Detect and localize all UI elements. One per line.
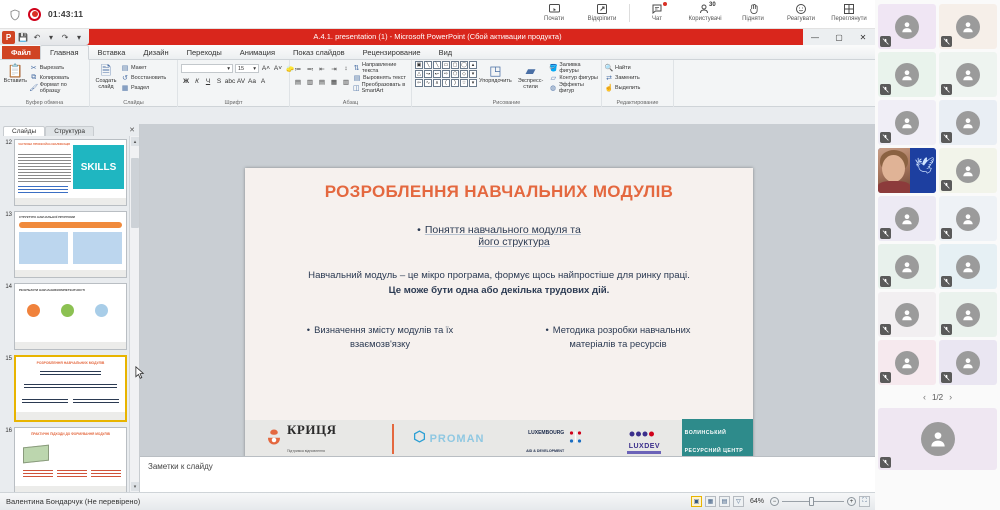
thumb-footer <box>16 412 125 420</box>
mic-off-icon <box>941 276 952 287</box>
paste-label: Вставить <box>4 78 27 84</box>
pager-label: 1/2 <box>932 393 943 402</box>
italic-button[interactable]: К <box>192 77 202 87</box>
shape-outline-icon: ▱ <box>549 74 557 82</box>
minimize-icon[interactable]: — <box>803 29 827 45</box>
thumb-col-right <box>73 399 119 405</box>
thumb-banner <box>19 222 122 228</box>
participant-tile-2[interactable] <box>939 4 997 49</box>
slide-paragraph: Навчальний модуль – це мікро програма, ф… <box>245 268 753 298</box>
tab-animations[interactable]: Анимация <box>231 46 284 59</box>
list-item[interactable]: 12 ЧАСТКОВА ПРОФЕСІЙНА КВАЛІФІКАЦІЯ SKIL… <box>2 139 127 206</box>
mic-off-icon <box>880 276 891 287</box>
thumb-circle-3 <box>95 304 108 317</box>
slide-thumbnail-16[interactable]: ПРАКТИЧНІ ПІДХОДИ ДО ФОРМУВАННЯ МОДУЛІВ <box>14 427 127 492</box>
logo-luxdev: LUXDEV <box>607 420 681 458</box>
shape-pentagon-icon[interactable]: ⬠ <box>451 70 459 78</box>
participant-tile-16[interactable] <box>939 340 997 385</box>
slide-thumbnail-12[interactable]: ЧАСТКОВА ПРОФЕСІЙНА КВАЛІФІКАЦІЯ SKILLS <box>14 139 127 206</box>
raise-hand-button[interactable]: Підняти <box>729 0 777 29</box>
chat-button[interactable]: Чат <box>633 0 681 29</box>
mic-off-icon <box>880 228 891 239</box>
recording-time: 01:43:11 <box>48 9 83 19</box>
luxdev-name: LUXDEV <box>629 443 660 450</box>
participant-tile-self[interactable]: 🕊 <box>878 148 936 193</box>
status-view-controls: ▣ ▦ ▤ ▽ 64% − + ⛶ <box>691 496 875 507</box>
meeting-toolbar: 01:43:11 Почати Відкріпити <box>0 0 875 29</box>
bullets-button[interactable]: ≔ <box>293 64 303 74</box>
thumb-circle-2 <box>61 304 74 317</box>
logo-luxembourg: LUXEMBOURG AID & DEVELOPMENT <box>503 420 607 458</box>
status-author-label: Валентина Бондарчук (Не перевірено) <box>6 497 140 506</box>
slide-number: 14 <box>2 283 12 350</box>
share-screen-icon <box>548 2 561 15</box>
mic-off-icon <box>941 372 952 383</box>
increase-indent-button[interactable]: ⇥ <box>329 64 339 74</box>
numbering-button[interactable]: ≕ <box>305 64 315 74</box>
avatar <box>956 111 980 135</box>
column-left-line-1: Визначення змісту модулів та їх <box>314 324 453 335</box>
thumb-col-2 <box>57 470 87 478</box>
reset-label: Восстановить <box>131 75 166 81</box>
mic-off-icon <box>880 132 891 143</box>
slide-number: 13 <box>2 211 12 278</box>
arrange-button[interactable]: ◳ Упорядочить <box>479 61 512 84</box>
current-slide[interactable]: РОЗРОБЛЕННЯ НАВЧАЛЬНИХ МОДУЛІВ •Поняття … <box>245 168 753 458</box>
slide-bullet-1: •Поняття навчального модуля та його стру… <box>245 224 753 248</box>
mic-off-icon <box>941 324 952 335</box>
self-video: 🕊 <box>878 148 936 193</box>
avatar <box>895 111 919 135</box>
thumb-title: СТРУКТУРА НАВЧАЛЬНОЇ ПРОГРАМИ <box>19 215 75 219</box>
participants-count: 30 <box>709 2 716 8</box>
clipboard-group-label: Буфер обмена <box>3 99 86 107</box>
font-size-input[interactable]: 15▾ <box>235 64 259 73</box>
raise-hand-icon <box>748 2 759 15</box>
normal-view-icon[interactable]: ▣ <box>691 496 702 507</box>
thumb-book-icon <box>23 445 49 464</box>
krycia-mark-icon <box>265 427 283 452</box>
tab-home[interactable]: Главная <box>40 45 89 60</box>
shape-curve1-icon[interactable]: ↝ <box>424 70 432 78</box>
find-button[interactable]: 🔍 Найти <box>605 63 640 72</box>
font-group-label: Шрифт <box>181 99 286 107</box>
slide-thumbnail-15[interactable]: РОЗРОБЛЕННЯ НАВЧАЛЬНИХ МОДУЛІВ <box>14 355 127 422</box>
chevron-right-icon[interactable]: › <box>949 392 952 402</box>
view-grid-icon <box>843 2 855 15</box>
share-screen-label: Почати <box>544 16 564 22</box>
format-painter-label: Формат по образцу <box>40 82 86 94</box>
section-icon: ▦ <box>121 84 129 92</box>
arrange-label: Упорядочить <box>479 78 512 84</box>
bird-icon: 🕊 <box>915 156 935 176</box>
font-color-button[interactable]: A <box>258 77 268 87</box>
paste-button[interactable]: 📋 Вставить <box>3 61 28 84</box>
bullet-1-line-1: Поняття навчального модуля та <box>425 224 581 236</box>
fit-slide-icon[interactable]: ⛶ <box>859 496 870 507</box>
participant-tile-13[interactable] <box>878 292 936 337</box>
shape-fill-label: Заливка фигуры <box>559 62 598 74</box>
shape-chevron-icon[interactable]: ∧ <box>433 79 441 87</box>
participant-tile-11[interactable] <box>878 244 936 289</box>
cut-label: Вырезать <box>40 65 64 71</box>
find-label: Найти <box>615 65 631 71</box>
tab-transitions[interactable]: Переходы <box>178 46 231 59</box>
view-label: Переглянути <box>831 16 867 22</box>
shape-arrow-left-icon[interactable]: ⇦ <box>415 79 423 87</box>
shapes-gallery[interactable]: ▣ ╲ ╲ ▭ ▢ ◯ ▴ △ ↝ ↜ ⇨ ⬠ ◇ <box>415 61 477 87</box>
ribbon-group-paragraph: ≔ ≕ ⇤ ⇥ ↕ ▤ ▥ ▤ ▦ ▥ <box>290 60 412 107</box>
shape-oval-icon[interactable]: ◯ <box>460 61 468 69</box>
proman-mark-icon <box>413 430 426 448</box>
align-text-label: Выровнять текст <box>363 75 406 81</box>
chat-icon <box>651 2 663 15</box>
zoom-level: 64% <box>750 498 764 505</box>
tab-slideshow[interactable]: Показ слайдов <box>284 46 354 59</box>
person-face <box>882 155 904 182</box>
thumb-image: SKILLS <box>73 145 124 189</box>
font-size-value: 15 <box>238 66 244 72</box>
align-center-button[interactable]: ▥ <box>305 77 315 87</box>
paragraph-group-label: Абзац <box>293 99 408 107</box>
participants-pager: ‹ 1/2 › <box>878 392 997 402</box>
record-icon[interactable] <box>28 8 41 21</box>
shape-curve2-icon[interactable]: ↜ <box>433 70 441 78</box>
thumb-circle-1 <box>27 304 40 317</box>
font-name-input[interactable]: ▾ <box>181 64 233 73</box>
logo-proman: PROMAN <box>394 420 503 458</box>
thumb-title: РЕЗУЛЬТАТИ НАВЧАННЯ/КОМПЕТЕНТНОСТІ <box>19 288 86 292</box>
align-left-button[interactable]: ▤ <box>293 77 303 87</box>
participant-tile-12[interactable] <box>939 244 997 289</box>
status-author: Валентина Бондарчук (Не перевірено) <box>0 497 140 506</box>
text-direction-button[interactable]: ⇅ Направление текста <box>353 63 408 72</box>
shadow-button[interactable]: S <box>214 77 224 87</box>
avatar <box>921 422 955 456</box>
participants-button[interactable]: 30 Користувачі <box>681 0 729 29</box>
participant-tile-9[interactable] <box>878 196 936 241</box>
slides-pane-tabs: Слайды Структура ✕ <box>0 124 139 136</box>
slide-title: РОЗРОБЛЕННЯ НАВЧАЛЬНИХ МОДУЛІВ <box>245 182 753 202</box>
mic-off-icon <box>941 180 952 191</box>
section-label: Раздел <box>131 85 149 91</box>
thumb-text-lines <box>18 154 71 184</box>
participant-tile-5[interactable] <box>878 100 936 145</box>
thumb-col-left <box>22 399 68 405</box>
list-item[interactable]: 13 СТРУКТУРА НАВЧАЛЬНОЇ ПРОГРАМИ <box>2 211 127 278</box>
thumb-footer <box>15 270 126 277</box>
align-right-button[interactable]: ▤ <box>317 77 327 87</box>
mic-off-icon <box>880 36 891 47</box>
decrease-indent-button[interactable]: ⇤ <box>317 64 327 74</box>
font-shrink-icon[interactable]: A˅ <box>273 64 283 74</box>
editing-group-label: Редактирование <box>605 99 670 107</box>
chat-label: Чат <box>652 16 662 22</box>
tab-insert[interactable]: Вставка <box>89 46 135 59</box>
replace-label: Заменить <box>615 75 640 81</box>
paragraph-line-2: Це може бути одна або декілька трудових … <box>245 283 753 298</box>
participants-panel: 🕊 <box>875 0 1000 510</box>
quick-styles-label: Экспресс-стили <box>514 78 548 90</box>
smartart-label: Преобразовать в SmartArt <box>362 82 408 94</box>
notes-placeholder: Заметки к слайду <box>140 457 875 476</box>
find-icon: 🔍 <box>605 64 613 72</box>
logo-krycia: КРИЦЯ Підтримка відновлення <box>245 424 394 454</box>
list-item[interactable]: 15 РОЗРОБЛЕННЯ НАВЧАЛЬНИХ МОДУЛІВ <box>2 355 127 422</box>
slide-number: 12 <box>2 139 12 206</box>
recording-indicator: 01:43:11 <box>0 8 83 21</box>
shape-star-icon[interactable]: ☆ <box>460 79 468 87</box>
slide-thumbnail-14[interactable]: РЕЗУЛЬТАТИ НАВЧАННЯ/КОМПЕТЕНТНОСТІ <box>14 283 127 350</box>
avatar <box>956 63 980 87</box>
participant-tile-8[interactable] <box>939 148 997 193</box>
font-grow-icon[interactable]: A˄ <box>261 64 271 74</box>
luxdev-dots-icon <box>629 424 659 442</box>
line-spacing-button[interactable]: ↕ <box>341 64 351 74</box>
status-bar: Валентина Бондарчук (Не перевірено) ▣ ▦ … <box>0 492 875 510</box>
select-label: Выделить <box>615 85 640 91</box>
replace-icon: ⇄ <box>605 74 613 82</box>
shapes-expand-icon[interactable]: ▾ <box>469 79 477 87</box>
shapes-more-icon[interactable]: ▴ <box>469 61 477 69</box>
avatar <box>956 351 980 375</box>
thumb-col-3 <box>91 470 121 478</box>
avatar <box>895 63 919 87</box>
cut-button[interactable]: ✂ Вырезать <box>30 63 86 72</box>
new-slide-button[interactable]: 🗎 Создать слайд <box>93 61 119 90</box>
krycia-subtitle: Підтримка відновлення <box>287 449 325 453</box>
powerpoint-title: A.4.1. presentation (1) - Microsoft Powe… <box>0 29 875 45</box>
close-icon[interactable]: ✕ <box>851 29 875 45</box>
participant-tile-15[interactable] <box>878 340 936 385</box>
layout-label: Макет <box>131 65 147 71</box>
tab-design[interactable]: Дизайн <box>134 46 177 59</box>
reset-icon: ↺ <box>121 74 129 82</box>
mic-off-icon <box>941 228 952 239</box>
zoom-slider-knob[interactable] <box>809 497 814 506</box>
zoom-out-icon[interactable]: − <box>770 497 779 506</box>
thumb-box-right <box>73 232 122 264</box>
smartart-icon: ◫ <box>353 84 360 92</box>
new-slide-icon: 🗎 <box>101 63 111 78</box>
tab-file[interactable]: Файл <box>2 46 40 59</box>
main-content-area: 01:43:11 Почати Відкріпити <box>0 0 875 510</box>
close-icon[interactable]: ✕ <box>129 126 135 134</box>
align-text-icon: ▤ <box>353 74 361 82</box>
pane-tab-outline[interactable]: Структура <box>45 126 94 136</box>
avatar <box>956 303 980 327</box>
chevron-left-icon[interactable]: ‹ <box>923 392 926 402</box>
zoom-slider[interactable] <box>782 496 844 507</box>
quick-styles-button[interactable]: ▰ Экспресс-стили <box>514 61 548 90</box>
mic-off-icon <box>941 84 952 95</box>
shape-fill-icon: 🪣 <box>549 64 557 72</box>
replace-button[interactable]: ⇄ Заменить <box>605 73 640 82</box>
shape-outline-label: Контур фигуры <box>559 75 597 81</box>
paste-icon: 📋 <box>7 63 23 78</box>
text-direction-icon: ⇅ <box>353 64 360 72</box>
person-torso <box>878 181 910 193</box>
columns-button[interactable]: ▥ <box>341 77 351 87</box>
reactions-icon <box>795 2 807 15</box>
tab-review[interactable]: Рецензирование <box>354 46 430 59</box>
screen-root: 01:43:11 Почати Відкріпити <box>0 0 1000 510</box>
shape-triangle-icon[interactable]: △ <box>415 70 423 78</box>
shape-rounded-icon[interactable]: ▢ <box>451 61 459 69</box>
chat-notification-dot <box>663 2 667 6</box>
section-button[interactable]: ▦ Раздел <box>121 83 166 92</box>
participant-tile-1[interactable] <box>878 4 936 49</box>
unpin-label: Відкріпити <box>588 16 617 22</box>
thumb-title: ЧАСТКОВА ПРОФЕСІЙНА КВАЛІФІКАЦІЯ <box>18 143 71 146</box>
format-painter-button[interactable]: 🖌 Формат по образцу <box>30 83 86 92</box>
reading-view-icon[interactable]: ▤ <box>719 496 730 507</box>
underline-button[interactable]: Ч <box>203 77 213 87</box>
list-item[interactable]: 14 РЕЗУЛЬТАТИ НАВЧАННЯ/КОМПЕТЕНТНОСТІ <box>2 283 127 350</box>
mic-off-icon <box>941 132 952 143</box>
shape-effects-button[interactable]: ◍ Эффекты фигур <box>549 83 598 92</box>
slides-pane-scrollbar[interactable]: ▴ ▾ <box>129 136 139 492</box>
slide-column-right: •Методика розробки навчальних матеріалів… <box>499 323 737 351</box>
slideshow-icon[interactable]: ▽ <box>733 496 744 507</box>
reset-button[interactable]: ↺ Восстановить <box>121 73 166 82</box>
shape-line-icon[interactable]: ╲ <box>424 61 432 69</box>
ribbon-tabs: Файл Главная Вставка Дизайн Переходы Ани… <box>0 45 875 60</box>
maximize-icon[interactable]: ▢ <box>827 29 851 45</box>
mic-off-icon <box>880 372 891 383</box>
slide-thumbnails: 12 ЧАСТКОВА ПРОФЕСІЙНА КВАЛІФІКАЦІЯ SKIL… <box>0 136 129 492</box>
avatar <box>956 15 980 39</box>
column-right-line-2: матеріалів та ресурсів <box>499 337 737 351</box>
drawing-group-label: Рисование <box>415 99 598 107</box>
format-painter-icon: 🖌 <box>30 84 38 92</box>
thumb-box-left <box>19 232 68 264</box>
logo-volyn-resource-center: ВОЛИНСЬКИЙ РЕСУРСНИЙ ЦЕНТР <box>682 420 753 458</box>
avatar <box>956 255 980 279</box>
shape-textbox-icon[interactable]: ▣ <box>415 61 423 69</box>
reactions-button[interactable]: Реагувати <box>777 0 825 29</box>
copy-icon: ⧉ <box>30 74 38 82</box>
window-buttons: — ▢ ✕ <box>803 29 875 45</box>
shield-icon <box>9 8 21 21</box>
select-icon: ☝ <box>605 84 613 92</box>
shape-brace-close-icon[interactable]: ) <box>451 79 459 87</box>
krycia-name: КРИЦЯ <box>287 422 336 437</box>
arrange-icon: ◳ <box>489 63 501 78</box>
thumb-title: ПРАКТИЧНІ ПІДХОДИ ДО ФОРМУВАННЯ МОДУЛІВ <box>15 432 126 436</box>
new-slide-label: Создать слайд <box>93 78 119 90</box>
layout-button[interactable]: ▤ Макет <box>121 63 166 72</box>
slide-thumbnail-13[interactable]: СТРУКТУРА НАВЧАЛЬНОЇ ПРОГРАМИ <box>14 211 127 278</box>
cut-icon: ✂ <box>30 64 38 72</box>
thumb-footer <box>15 198 126 205</box>
mic-off-icon <box>941 36 952 47</box>
copy-label: Копировать <box>40 75 70 81</box>
shapes-scroll-icon[interactable]: ▾ <box>469 70 477 78</box>
list-item[interactable]: 16 ПРАКТИЧНІ ПІДХОДИ ДО ФОРМУВАННЯ МОДУЛ… <box>2 427 127 492</box>
shape-brace-open-icon[interactable]: ( <box>442 79 450 87</box>
ribbon-group-font: ▾ 15▾ A˄ A˅ 🧽 Ж К Ч <box>178 60 290 107</box>
tab-view[interactable]: Вид <box>430 46 462 59</box>
change-case-button[interactable]: Aa <box>247 77 257 87</box>
bold-button[interactable]: Ж <box>181 77 191 87</box>
slide-canvas[interactable]: РОЗРОБЛЕННЯ НАВЧАЛЬНИХ МОДУЛІВ •Поняття … <box>140 124 875 510</box>
participant-tile-featured[interactable] <box>878 408 997 470</box>
participant-tile-4[interactable] <box>939 52 997 97</box>
thumb-links <box>18 186 68 193</box>
scroll-up-icon[interactable]: ▴ <box>131 137 139 146</box>
luxdev-underline <box>627 451 661 454</box>
thumb-footer <box>15 342 126 349</box>
avatar <box>895 207 919 231</box>
select-button[interactable]: ☝ Выделить <box>605 83 640 92</box>
shape-diamond-icon[interactable]: ◇ <box>460 70 468 78</box>
strikethrough-button[interactable]: abc <box>225 77 235 87</box>
avatar <box>895 255 919 279</box>
shape-effects-label: Эффекты фигур <box>559 82 598 94</box>
scrollbar-thumb[interactable] <box>131 158 139 228</box>
shape-arrow-right-icon[interactable]: ⇨ <box>442 70 450 78</box>
thumb-col-1 <box>23 470 53 478</box>
slide-columns: •Визначення змісту модулів та їх взаємоз… <box>245 323 753 351</box>
share-screen-button[interactable]: Почати <box>530 0 578 29</box>
view-button[interactable]: Переглянути <box>825 0 873 29</box>
mouse-cursor-icon <box>135 366 145 385</box>
participant-tile-14[interactable] <box>939 292 997 337</box>
column-left-line-2: взаємозв'язку <box>261 337 499 351</box>
shape-rect-icon[interactable]: ▭ <box>442 61 450 69</box>
mic-off-icon <box>880 457 891 468</box>
scroll-down-icon[interactable]: ▾ <box>131 482 139 491</box>
sorter-view-icon[interactable]: ▦ <box>705 496 716 507</box>
self-video-person <box>878 148 910 193</box>
thumb-title: РОЗРОБЛЕННЯ НАВЧАЛЬНИХ МОДУЛІВ <box>16 361 125 365</box>
participant-tile-6[interactable] <box>939 100 997 145</box>
text-direction-label: Направление текста <box>362 62 408 74</box>
justify-button[interactable]: ▦ <box>329 77 339 87</box>
participants-label: Користувачі <box>688 16 721 22</box>
quick-styles-icon: ▰ <box>526 63 536 78</box>
mic-off-icon <box>880 324 891 335</box>
avatar <box>895 303 919 327</box>
shape-fill-button[interactable]: 🪣 Заливка фигуры <box>549 63 598 72</box>
zoom-in-icon[interactable]: + <box>847 497 856 506</box>
avatar <box>956 207 980 231</box>
ribbon-group-slides: 🗎 Создать слайд ▤ Макет ↺ Восстановить <box>90 60 178 107</box>
thumb-para <box>24 384 117 390</box>
shape-wave-icon[interactable]: ∿ <box>424 79 432 87</box>
avatar <box>895 15 919 39</box>
participant-tile-10[interactable] <box>939 196 997 241</box>
vrc-name: ВОЛИНСЬКИЙ РЕСУРСНИЙ ЦЕНТР <box>685 430 744 454</box>
participant-tile-3[interactable] <box>878 52 936 97</box>
notes-pane[interactable]: Заметки к слайду <box>140 456 875 492</box>
character-spacing-button[interactable]: AV <box>236 77 246 87</box>
smartart-button[interactable]: ◫ Преобразовать в SmartArt <box>353 83 408 92</box>
avatar <box>956 159 980 183</box>
thumb-bullet <box>40 371 101 377</box>
slides-pane: Слайды Структура ✕ 12 ЧАСТКОВА ПРОФЕСІЙН… <box>0 124 140 510</box>
unpin-icon <box>596 2 608 15</box>
pane-tab-slides[interactable]: Слайды <box>3 126 45 136</box>
unpin-button[interactable]: Відкріпити <box>578 0 626 29</box>
avatar <box>895 351 919 375</box>
toolbar-divider <box>629 4 630 22</box>
ribbon-group-editing: 🔍 Найти ⇄ Заменить ☝ Выделить <box>602 60 674 107</box>
slides-group-label: Слайды <box>93 99 174 107</box>
powerpoint-titlebar: P 💾 ↶ ▾ ↷ ▾ A.4.1. presentation (1) - Mi… <box>0 29 875 45</box>
shape-arrow-icon[interactable]: ╲ <box>433 61 441 69</box>
